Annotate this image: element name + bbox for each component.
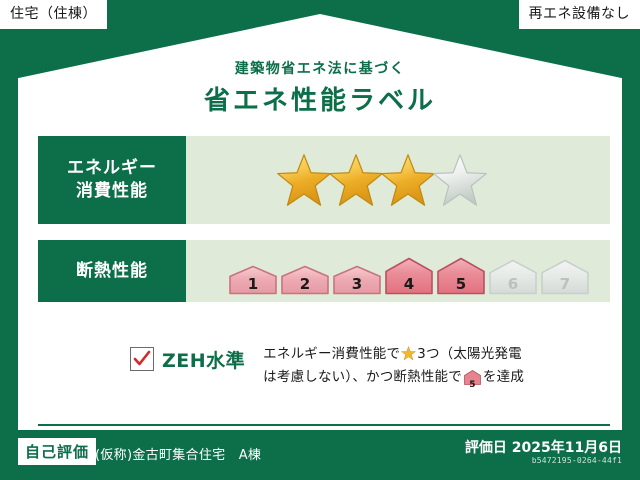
insulation-level-number: 4: [384, 275, 434, 293]
star-icon-filled: [328, 152, 384, 208]
zeh-description: エネルギー消費性能で 3つ（太陽光発電 は考慮しない）、かつ断熱性能で 5 を達…: [263, 343, 524, 393]
title-subtitle: 建築物省エネ法に基づく: [0, 58, 640, 78]
insulation-level-number: 6: [488, 275, 538, 293]
energy-performance-label: 住宅（住棟） 再エネ設備なし 建築物省エネ法に基づく 省エネ性能ラベル エネルギ…: [0, 0, 640, 480]
insulation-level-6: 6: [488, 259, 538, 295]
row-insulation-performance: 断熱性能 1234567: [38, 240, 610, 302]
building-name: (仮称)金古町集合住宅 A棟: [95, 444, 261, 463]
insulation-level-1: 1: [228, 265, 278, 295]
row-energy-label-line1: エネルギー: [67, 157, 157, 180]
zeh-checkbox[interactable]: [130, 347, 154, 371]
insulation-level-number: 2: [280, 275, 330, 293]
star-icon-empty: [432, 152, 488, 208]
zeh-title: ZEH水準: [162, 346, 245, 373]
insulation-level-5: 5: [436, 257, 486, 295]
evaluation-id: b5472195-0264-44f1: [532, 456, 622, 465]
row-energy-performance: エネルギー 消費性能: [38, 136, 610, 224]
status-badge-self-evaluation: 自己評価: [18, 438, 96, 465]
house-icon-inline: 5: [464, 370, 481, 393]
zeh-block: ZEH水準 エネルギー消費性能で 3つ（太陽光発電 は考慮しない）、かつ断熱性能…: [130, 343, 524, 393]
star-icon-filled: [380, 152, 436, 208]
star-icon-inline: [401, 346, 416, 361]
footer-divider: [38, 424, 610, 426]
zeh-description-line1: エネルギー消費性能で 3つ（太陽光発電: [263, 343, 524, 366]
insulation-level-number: 7: [540, 275, 590, 293]
house-icon-inline-num: 5: [464, 378, 481, 393]
insulation-level-2: 2: [280, 265, 330, 295]
tag-building-type: 住宅（住棟）: [0, 0, 107, 29]
zeh-desc-l2-a: は考慮しない）、かつ断熱性能で: [263, 369, 462, 385]
row-energy-label: エネルギー 消費性能: [38, 136, 186, 224]
evaluation-date: 評価日 2025年11月6日: [465, 437, 622, 457]
insulation-level-3: 3: [332, 265, 382, 295]
check-icon: [133, 350, 151, 368]
insulation-level-4: 4: [384, 257, 434, 295]
zeh-desc-l1-b: 3つ（太陽光発電: [417, 346, 522, 362]
zeh-description-line2: は考慮しない）、かつ断熱性能で 5 を達成: [263, 366, 524, 393]
insulation-level-number: 5: [436, 275, 486, 293]
insulation-level-number: 3: [332, 275, 382, 293]
evaluation-date-label: 評価日: [465, 440, 507, 456]
page-title: 省エネ性能ラベル: [0, 80, 640, 117]
row-insulation-content: 1234567: [186, 240, 610, 302]
star-rating: [276, 152, 484, 208]
insulation-scale: 1234567: [228, 247, 590, 295]
zeh-desc-l2-b: を達成: [483, 369, 524, 385]
row-insulation-label: 断熱性能: [38, 240, 186, 302]
row-energy-content: [186, 136, 610, 224]
row-energy-label-line2: 消費性能: [76, 180, 148, 203]
evaluation-date-value: 2025年11月6日: [512, 440, 622, 456]
zeh-desc-l1-a: エネルギー消費性能で: [263, 346, 400, 362]
insulation-level-7: 7: [540, 259, 590, 295]
insulation-level-number: 1: [228, 275, 278, 293]
tag-renewable-energy: 再エネ設備なし: [519, 0, 640, 29]
star-icon-filled: [276, 152, 332, 208]
